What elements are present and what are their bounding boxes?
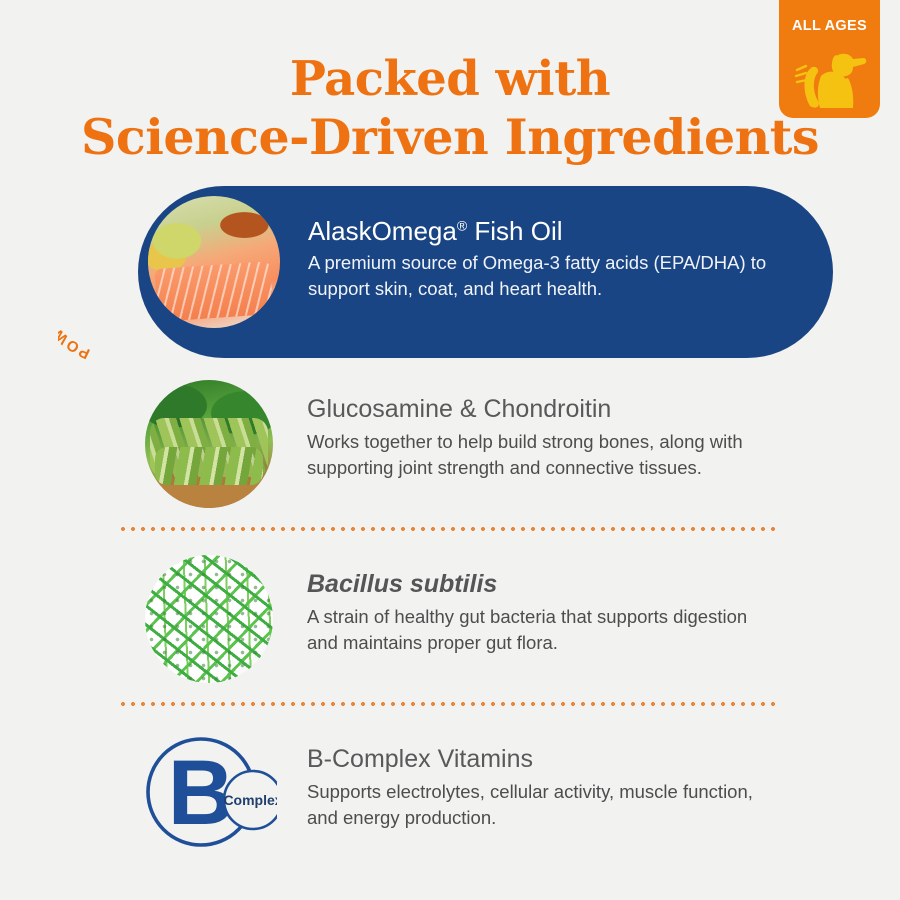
all-ages-badge-label: ALL AGES: [792, 19, 867, 34]
card-text: Bacillus subtilis A strain of healthy gu…: [307, 569, 777, 656]
green-capsules-photo: [145, 380, 273, 508]
card-description: A premium source of Omega-3 fatty acids …: [308, 250, 778, 302]
list-item[interactable]: AlaskOmega® Fish Oil A premium source of…: [0, 186, 900, 366]
card-title: AlaskOmega® Fish Oil: [308, 216, 778, 246]
page-title-line-2: Science-Driven Ingredients: [0, 108, 900, 166]
b-complex-logo: B Complex: [143, 728, 277, 862]
b-complex-bubble-label: Complex: [223, 792, 277, 808]
page-title-line-1: Packed with: [0, 50, 900, 108]
registered-trademark-icon: ®: [457, 217, 467, 233]
list-item[interactable]: Glucosamine & Chondroitin Works together…: [0, 366, 900, 541]
card-title: Glucosamine & Chondroitin: [307, 394, 777, 424]
divider: [118, 702, 780, 706]
card-text: B-Complex Vitamins Supports electrolytes…: [307, 744, 777, 831]
card-text: Glucosamine & Chondroitin Works together…: [307, 394, 777, 481]
card-title: B-Complex Vitamins: [307, 744, 777, 774]
bacteria-microscopy-photo: [145, 555, 273, 683]
ingredient-list: AlaskOmega® Fish Oil A premium source of…: [0, 186, 900, 891]
card-text: AlaskOmega® Fish Oil A premium source of…: [308, 216, 778, 302]
card-title-suffix: Fish Oil: [467, 216, 562, 246]
salmon-fillet-photo: [148, 196, 280, 328]
card-description: Works together to help build strong bone…: [307, 429, 777, 481]
divider: [118, 527, 780, 531]
card-title-brand: AlaskOmega: [308, 216, 457, 246]
card-description: Supports electrolytes, cellular activity…: [307, 779, 777, 831]
list-item[interactable]: Bacillus subtilis A strain of healthy gu…: [0, 541, 900, 716]
card-description: A strain of healthy gut bacteria that su…: [307, 604, 777, 656]
page-title: Packed with Science-Driven Ingredients: [0, 50, 900, 166]
list-item[interactable]: B Complex B-Complex Vitamins Supports el…: [0, 716, 900, 891]
card-title: Bacillus subtilis: [307, 569, 777, 599]
